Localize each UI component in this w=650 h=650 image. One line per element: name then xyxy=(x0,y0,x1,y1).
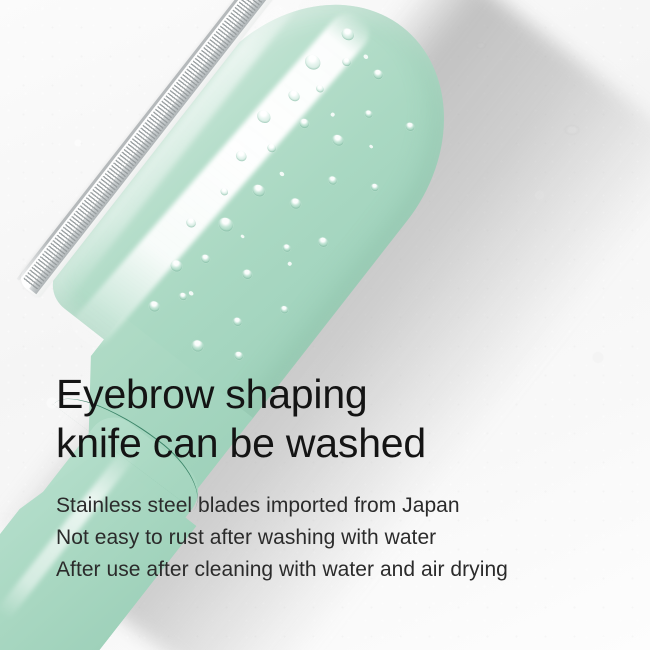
feature-list: Stainless steel blades imported from Jap… xyxy=(56,490,616,586)
product-image-canvas: Eyebrow shaping knife can be washed Stai… xyxy=(0,0,650,650)
headline: Eyebrow shaping knife can be washed xyxy=(56,370,616,468)
feature-item: Stainless steel blades imported from Jap… xyxy=(56,490,616,522)
feature-item: Not easy to rust after washing with wate… xyxy=(56,522,616,554)
marketing-copy: Eyebrow shaping knife can be washed Stai… xyxy=(56,370,616,586)
feature-item: After use after cleaning with water and … xyxy=(56,554,616,586)
